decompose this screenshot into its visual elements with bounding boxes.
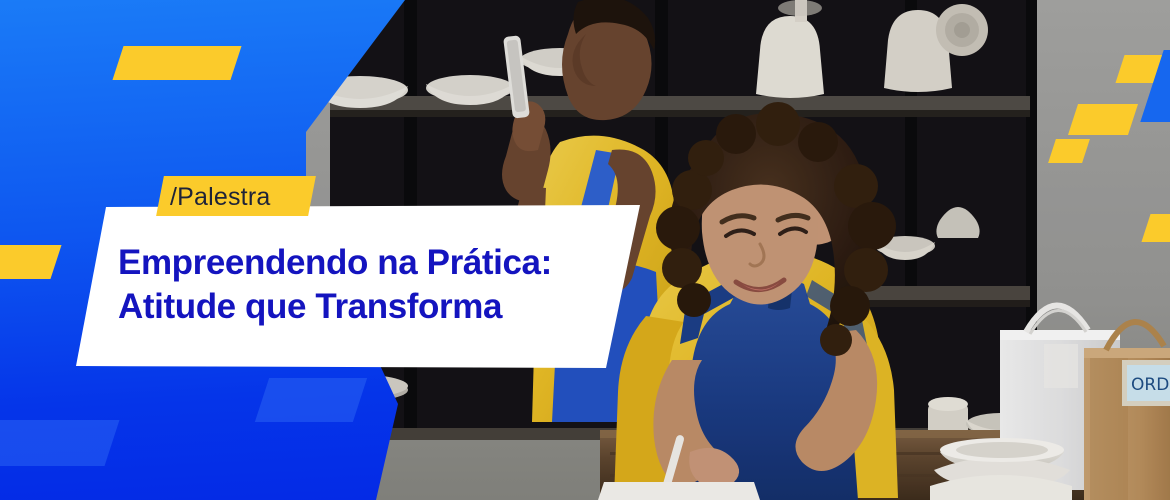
page-title: Empreendendo na Prática: Atitude que Tra… bbox=[118, 241, 618, 329]
category-tag-label: /Palestra bbox=[170, 181, 320, 213]
yellow-parallelogram-top-left bbox=[112, 46, 241, 80]
light-blue-parallelogram-bottom bbox=[0, 420, 119, 466]
yellow-parallelogram-right-2 bbox=[1068, 104, 1138, 135]
light-blue-parallelogram-mid bbox=[255, 378, 367, 422]
promo-banner: ORD Empreendendo na Prática: Atitude que… bbox=[0, 0, 1170, 500]
